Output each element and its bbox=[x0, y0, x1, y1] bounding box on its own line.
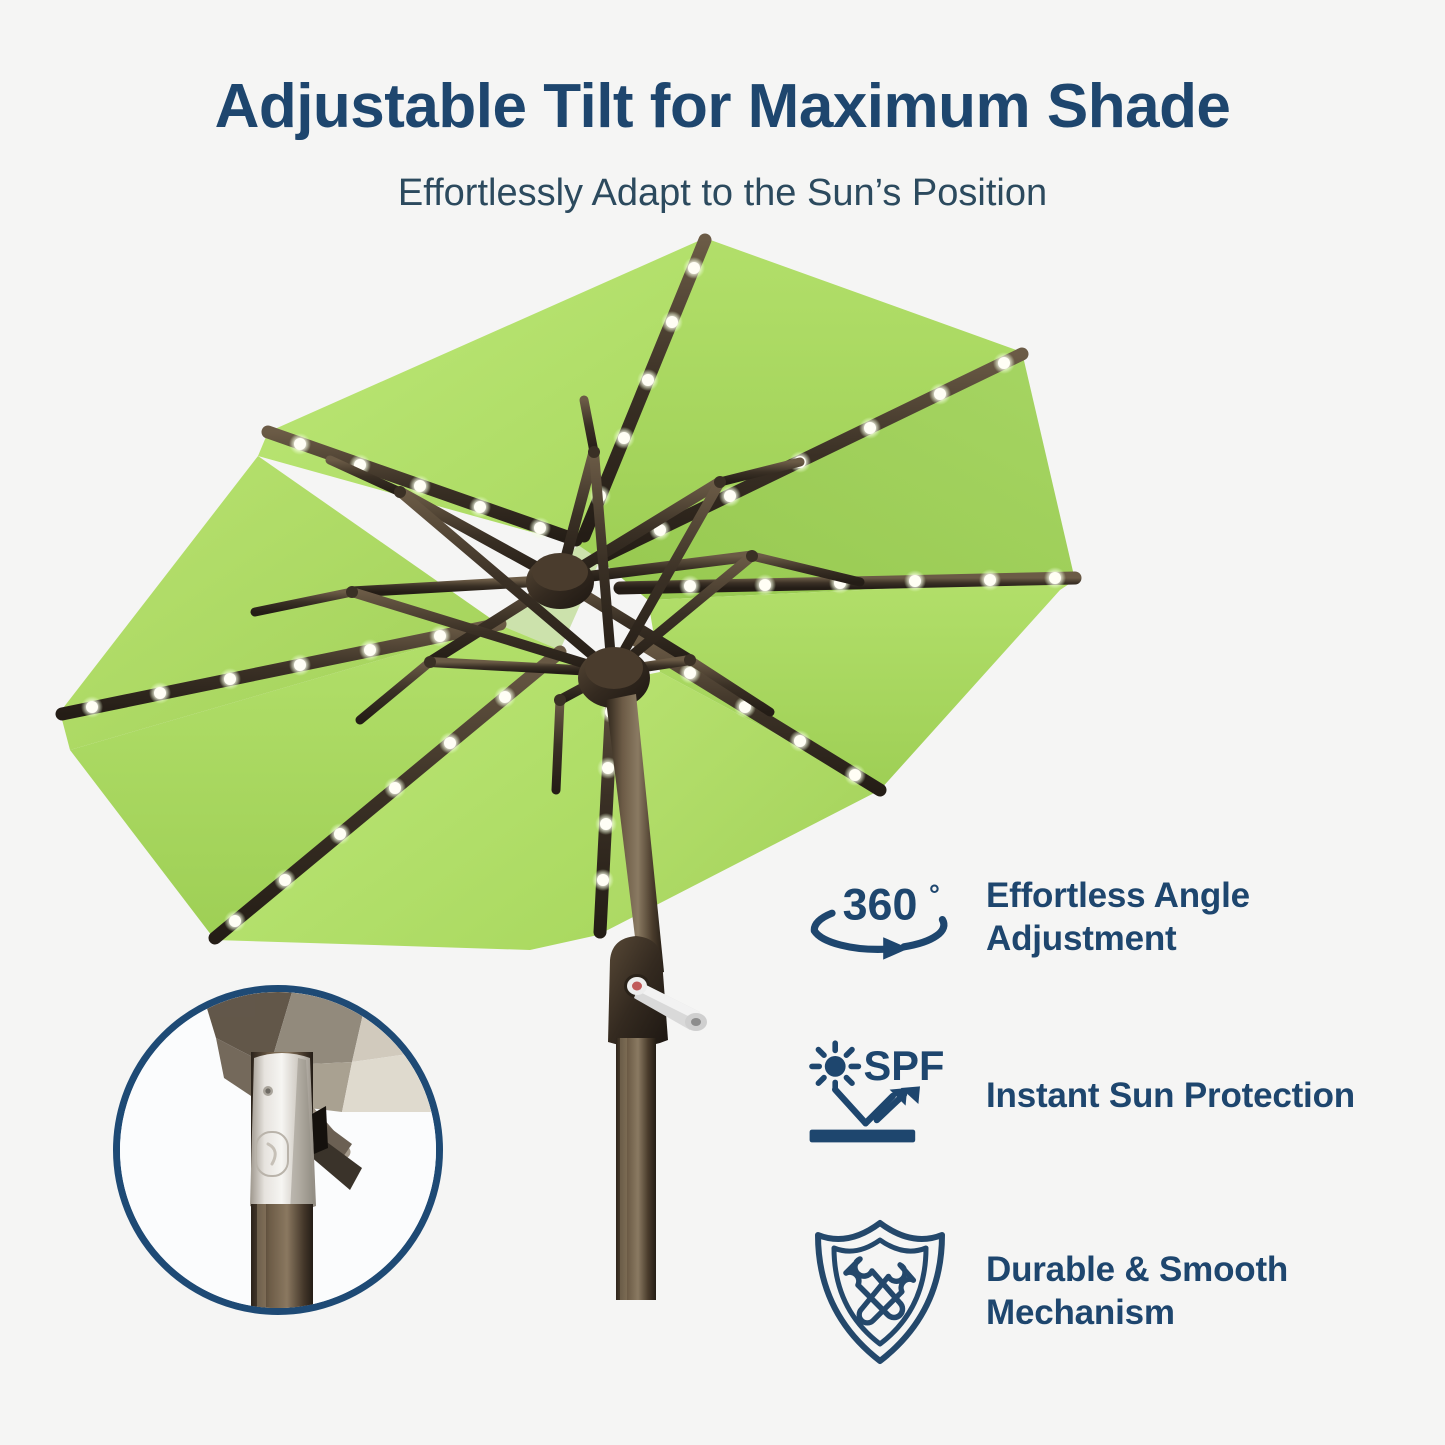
tilt-mechanism-detail-inset bbox=[113, 985, 443, 1315]
feature-label-durable-mechanism: Durable & Smooth Mechanism bbox=[986, 1249, 1440, 1334]
spf-sun-protection-icon: SPF bbox=[800, 1026, 960, 1166]
feature-label-angle-adjustment: Effortless Angle Adjustment bbox=[986, 875, 1440, 960]
shield-wrench-icon bbox=[800, 1218, 960, 1366]
360-icon-number: 360 bbox=[843, 880, 918, 930]
spf-icon-text: SPF bbox=[864, 1042, 945, 1089]
product-feature-banner: Adjustable Tilt for Maximum Shade Effort… bbox=[0, 0, 1445, 1445]
feature-item-angle-adjustment: 360 ° Effortless Angle Adjustment bbox=[800, 862, 1440, 974]
360-degree-rotation-icon: 360 ° bbox=[800, 862, 960, 974]
feature-list: 360 ° Effortless Angle Adjustment bbox=[800, 862, 1440, 1410]
feature-item-durable-mechanism: Durable & Smooth Mechanism bbox=[800, 1218, 1440, 1366]
feature-label-sun-protection: Instant Sun Protection bbox=[986, 1075, 1355, 1118]
tilt-collar bbox=[250, 1053, 316, 1213]
360-icon-degree: ° bbox=[929, 879, 940, 910]
feature-item-sun-protection: SPF Instant Sun Protection bbox=[800, 1026, 1440, 1166]
sun-core-icon bbox=[825, 1056, 846, 1077]
spf-surface-bar bbox=[810, 1130, 916, 1143]
